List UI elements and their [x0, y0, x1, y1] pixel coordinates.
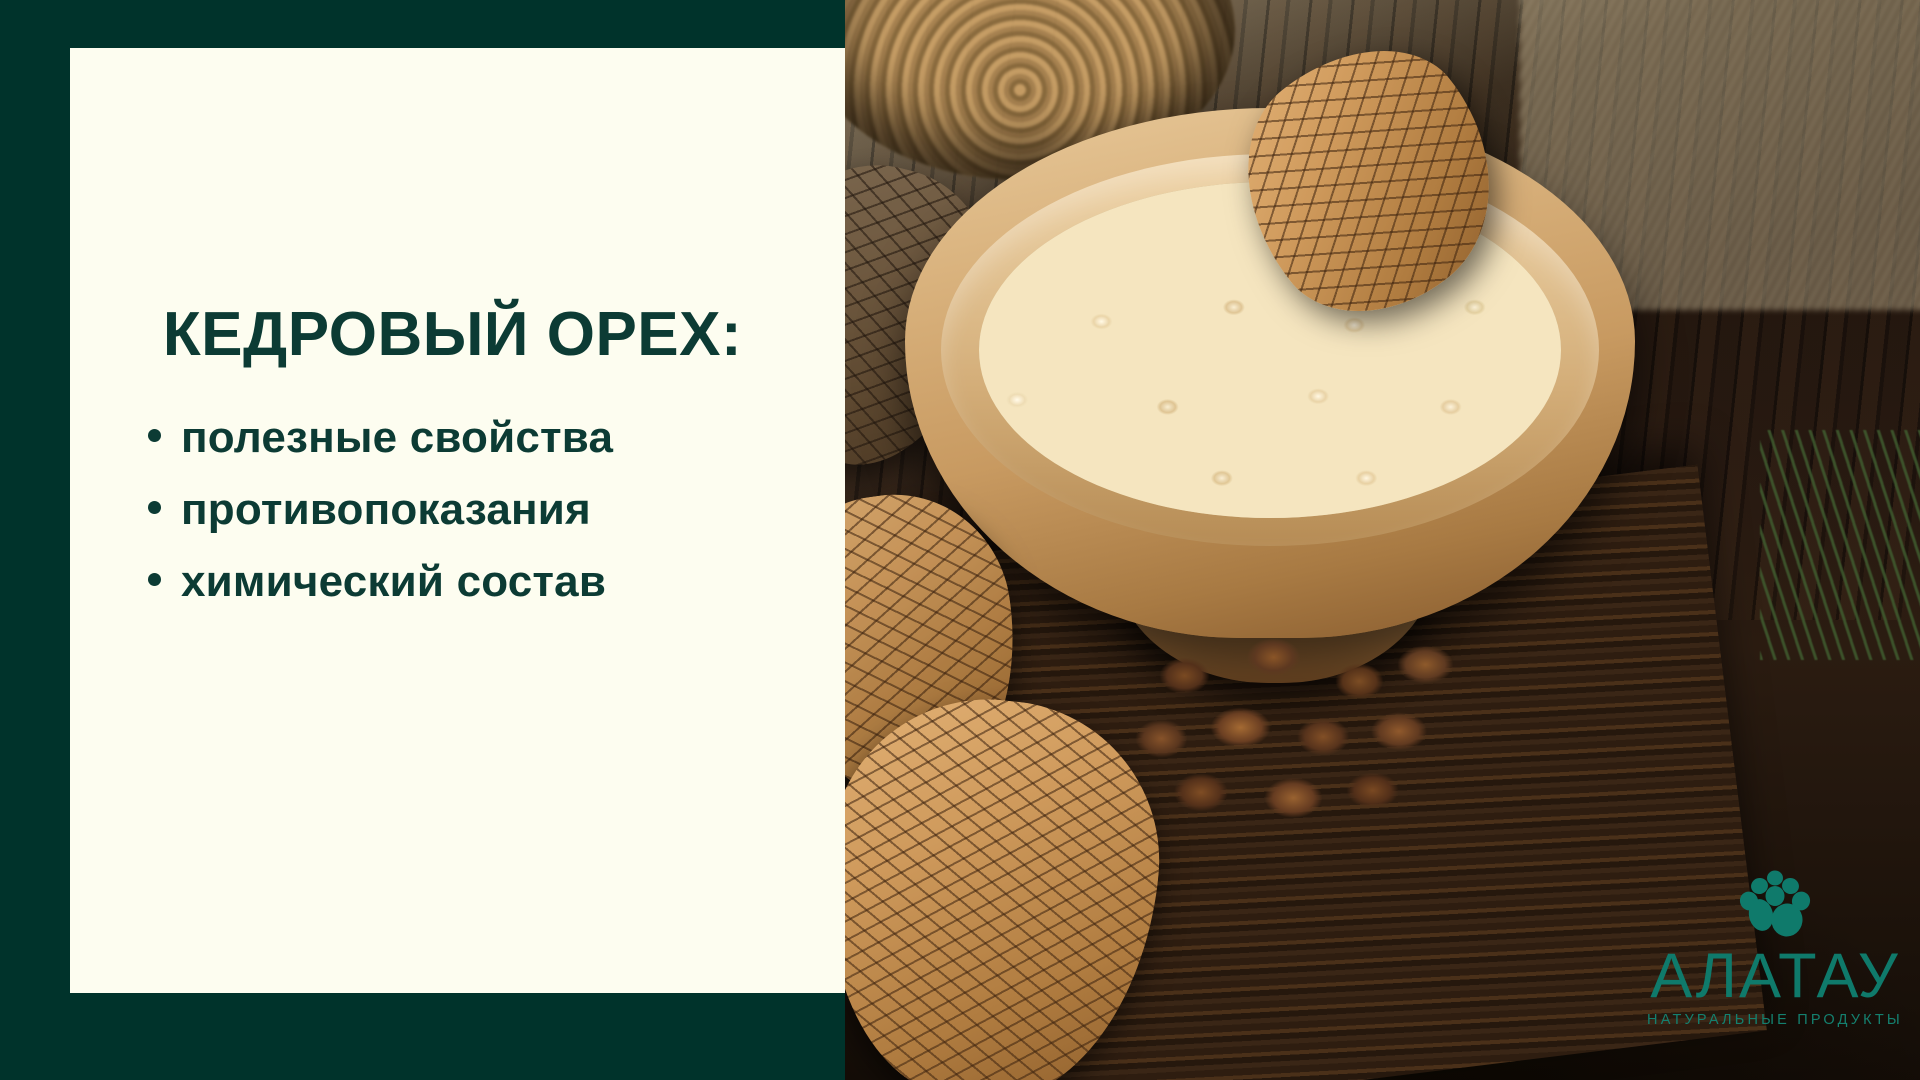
list-item: противопоказания	[94, 485, 811, 535]
logo-wordmark: АЛАТАУ	[1645, 948, 1905, 1006]
list-item: химический состав	[94, 557, 811, 607]
list-item-label: противопоказания	[181, 485, 591, 535]
slide-canvas: КЕДРОВЫЙ ОРЕХ: полезные свойства противо…	[0, 0, 1920, 1080]
loose-pine-nuts	[1135, 635, 1465, 820]
brand-logo: АЛАТАУ НАТУРАЛЬНЫЕ ПРОДУКТЫ	[1645, 870, 1905, 1028]
text-card: КЕДРОВЫЙ ОРЕХ: полезные свойства противо…	[70, 48, 845, 993]
list-item: полезные свойства	[94, 413, 811, 463]
list-item-label: химический состав	[181, 557, 606, 607]
bullet-dot-icon	[148, 501, 161, 514]
pinecone-icon	[1735, 870, 1815, 946]
list-item-label: полезные свойства	[181, 413, 613, 463]
feature-list: полезные свойства противопоказания химич…	[94, 413, 811, 607]
bullet-dot-icon	[148, 429, 161, 442]
card-content: КЕДРОВЫЙ ОРЕХ: полезные свойства противо…	[70, 303, 845, 607]
pine-sprig	[1760, 430, 1920, 660]
logo-tagline: НАТУРАЛЬНЫЕ ПРОДУКТЫ	[1645, 1012, 1905, 1028]
page-title: КЕДРОВЫЙ ОРЕХ:	[94, 303, 811, 367]
bullet-dot-icon	[148, 573, 161, 586]
